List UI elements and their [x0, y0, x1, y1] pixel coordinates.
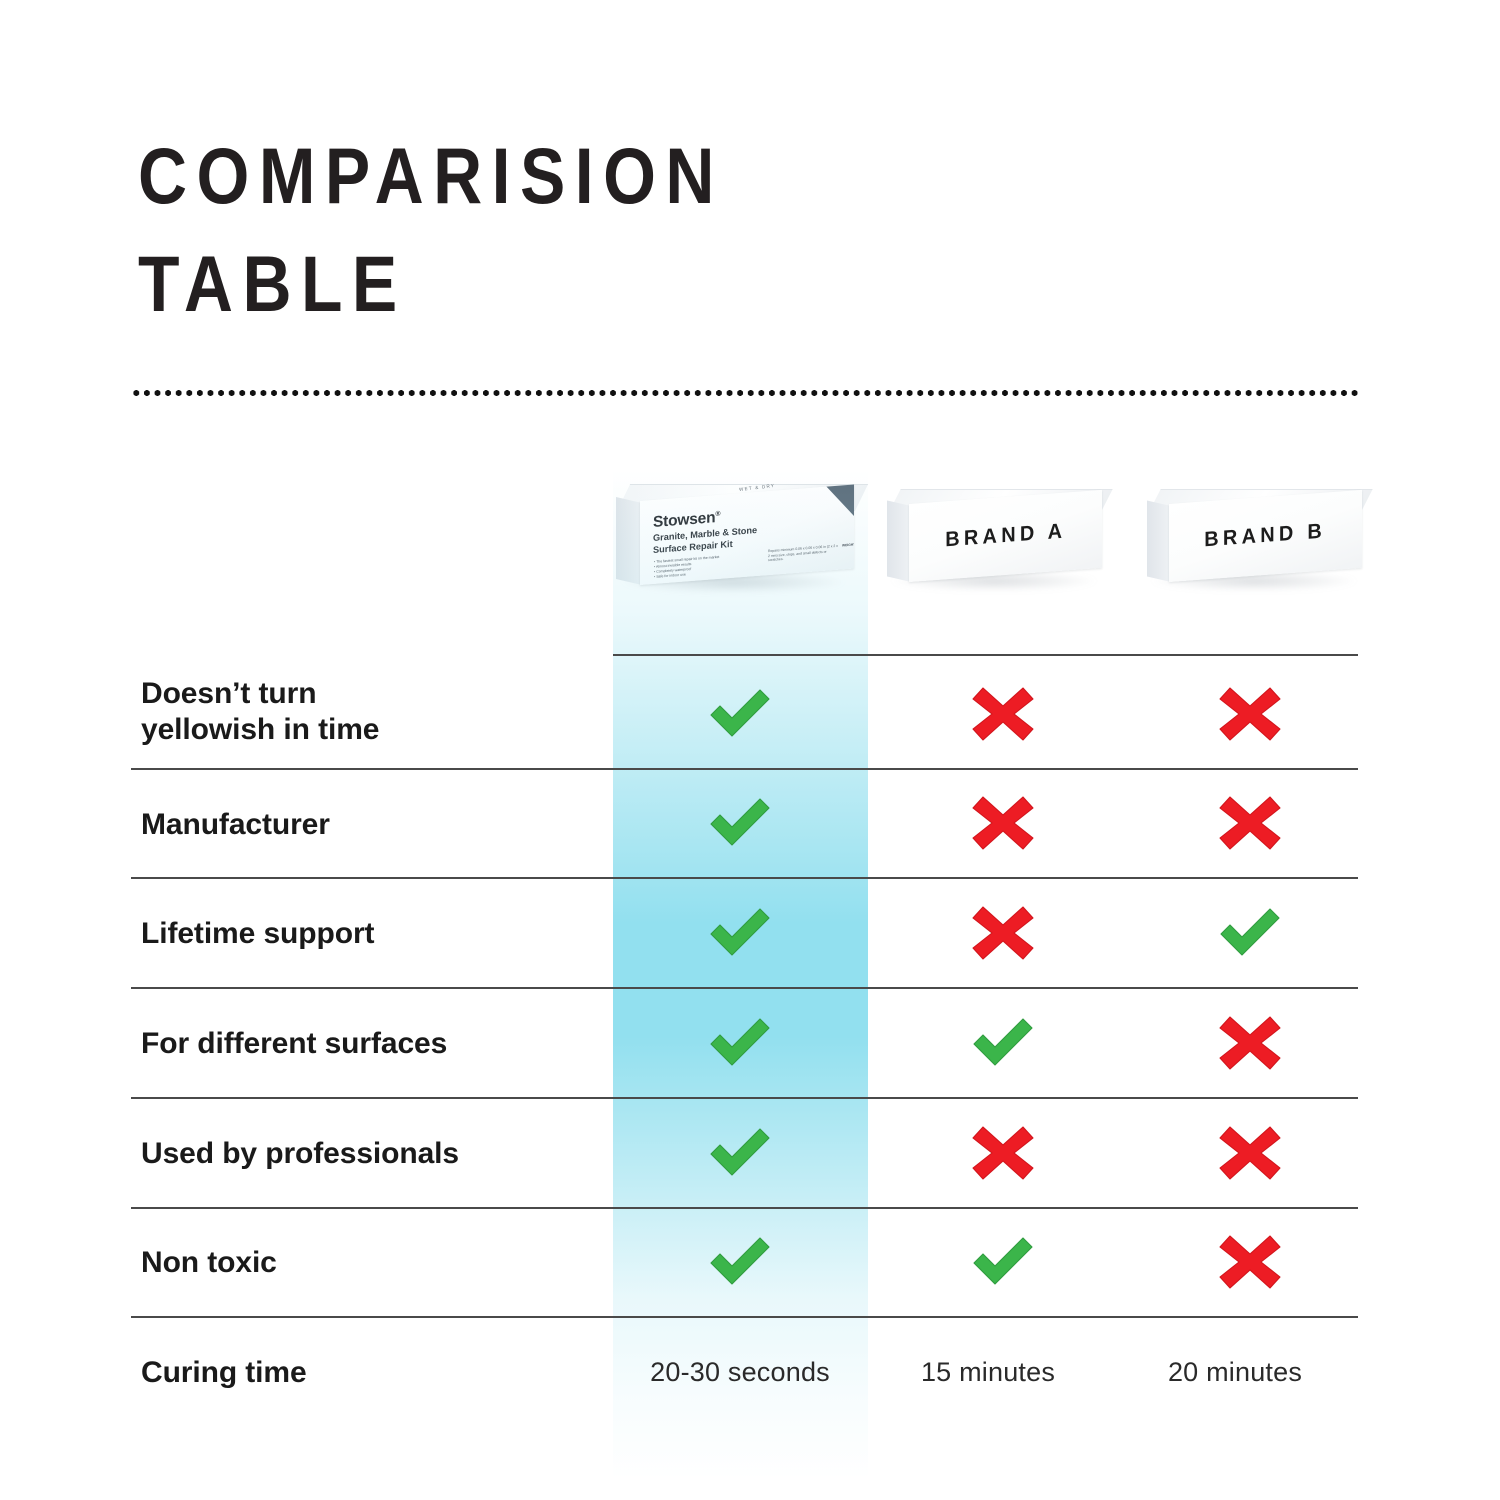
row-label-for-different-surfaces: For different surfaces: [141, 1026, 601, 1062]
cross-icon: [1214, 1120, 1286, 1186]
check-icon: [704, 681, 776, 747]
check-icon: [704, 1120, 776, 1186]
row-label-doesnt-turn-yellowish: Doesn’t turn yellowish in time: [141, 676, 601, 748]
row-label-line-2: yellowish in time: [141, 712, 601, 748]
row-label-line-1: For different surfaces: [141, 1026, 601, 1062]
table-rule: [131, 987, 1358, 989]
row-label-used-by-professionals: Used by professionals: [141, 1136, 601, 1172]
cross-icon: [967, 681, 1039, 747]
cross-icon: [1214, 1229, 1286, 1295]
curing-time-brand-b: 20 minutes: [1168, 1357, 1302, 1388]
check-icon: [704, 1010, 776, 1076]
check-icon: [967, 1010, 1039, 1076]
check-icon: [704, 790, 776, 856]
table-rule-top: [613, 654, 1358, 656]
row-label-line-1: Curing time: [141, 1355, 601, 1391]
cross-icon: [1214, 681, 1286, 747]
row-label-line-1: Used by professionals: [141, 1136, 601, 1172]
curing-time-brand-a: 15 minutes: [921, 1357, 1055, 1388]
row-label-line-1: Non toxic: [141, 1245, 601, 1281]
row-label-line-1: Lifetime support: [141, 916, 601, 952]
row-label-curing-time: Curing time: [141, 1355, 601, 1391]
cross-icon: [967, 900, 1039, 966]
table-rule: [131, 1207, 1358, 1209]
row-label-non-toxic: Non toxic: [141, 1245, 601, 1281]
check-icon: [1214, 900, 1286, 966]
check-icon: [704, 900, 776, 966]
cross-icon: [1214, 1010, 1286, 1076]
row-label-line-1: Manufacturer: [141, 807, 601, 843]
cross-icon: [967, 1120, 1039, 1186]
cross-icon: [967, 790, 1039, 856]
table-rule: [131, 877, 1358, 879]
row-label-lifetime-support: Lifetime support: [141, 916, 601, 952]
comparison-table: Doesn’t turn yellowish in time Manufactu…: [0, 0, 1500, 1500]
table-rule: [131, 768, 1358, 770]
row-label-manufacturer: Manufacturer: [141, 807, 601, 843]
table-rule: [131, 1097, 1358, 1099]
curing-time-stowsen: 20-30 seconds: [650, 1357, 830, 1388]
check-icon: [967, 1229, 1039, 1295]
check-icon: [704, 1229, 776, 1295]
table-rule: [131, 1316, 1358, 1318]
row-label-line-1: Doesn’t turn: [141, 676, 601, 712]
cross-icon: [1214, 790, 1286, 856]
